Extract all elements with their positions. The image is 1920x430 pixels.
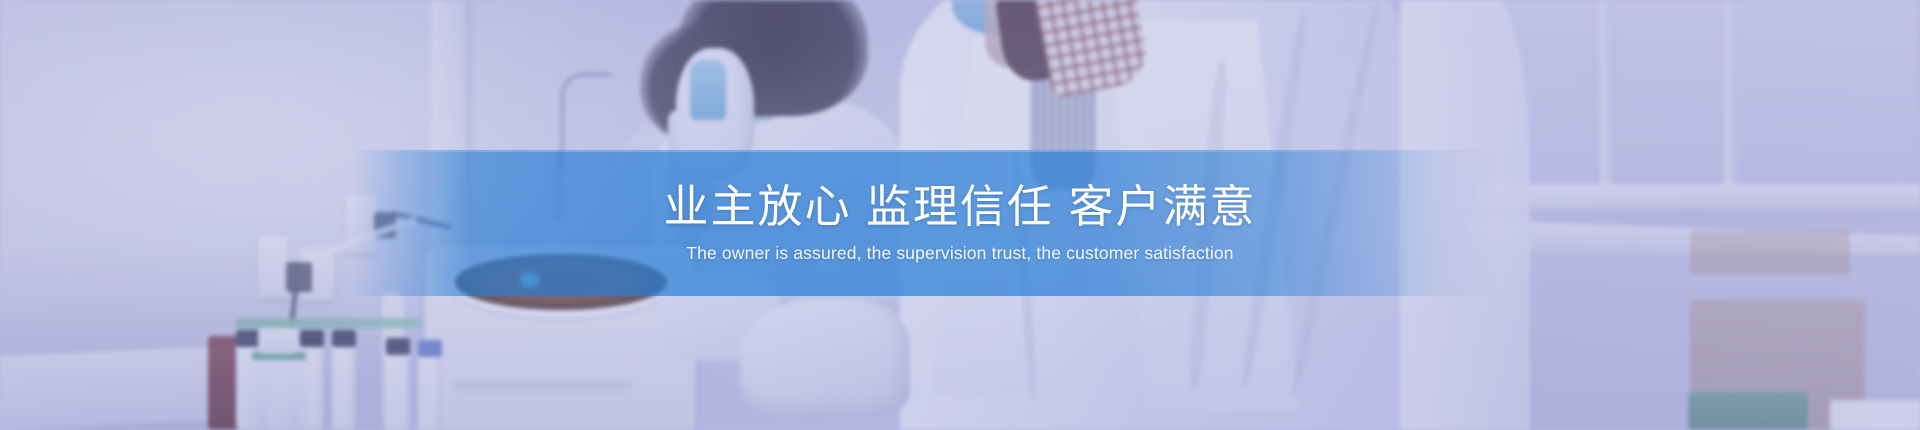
banner-subheadline: The owner is assured, the supervision tr…: [686, 245, 1233, 263]
banner-headline: 业主放心 监理信任 客户满意: [663, 184, 1256, 229]
hero-banner: 业主放心 监理信任 客户满意 The owner is assured, the…: [0, 0, 1920, 430]
banner-text-block: 业主放心 监理信任 客户满意 The owner is assured, the…: [0, 150, 1920, 296]
